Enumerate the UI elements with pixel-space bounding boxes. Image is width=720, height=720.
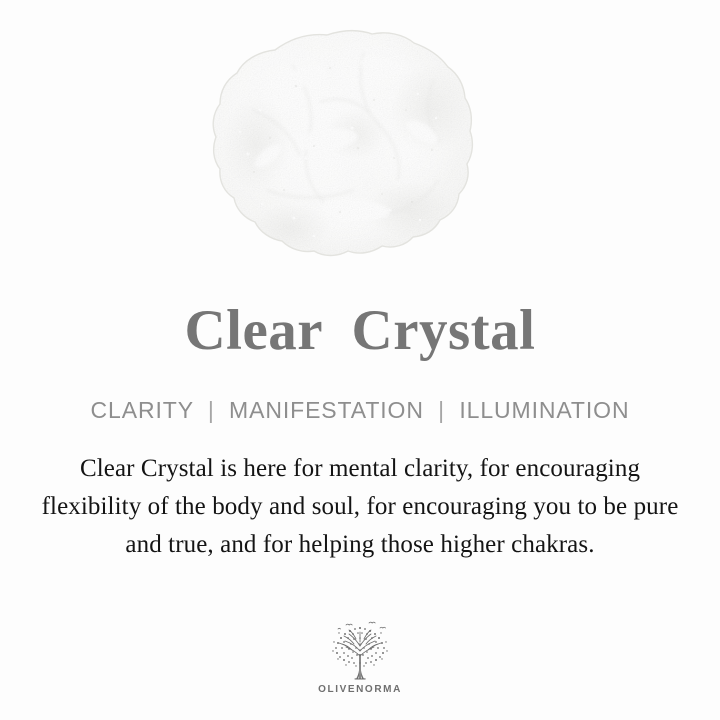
keyword-separator-1: | — [201, 395, 222, 425]
olive-tree-icon — [318, 620, 402, 682]
keyword-list: CLARITY | MANIFESTATION | ILLUMINATION — [0, 395, 720, 425]
product-description: Clear Crystal is here for mental clarity… — [40, 450, 680, 564]
brand-name: OLIVENORMA — [318, 684, 402, 695]
keyword-illumination: ILLUMINATION — [459, 397, 629, 423]
clear-crystal-image — [196, 14, 506, 286]
keyword-manifestation: MANIFESTATION — [229, 397, 424, 423]
keyword-clarity: CLARITY — [91, 397, 194, 423]
crystal-image-container — [0, 0, 720, 292]
keyword-separator-2: | — [431, 395, 452, 425]
brand-logo: OLIVENORMA — [0, 620, 720, 695]
product-info-card: Clear Crystal CLARITY | MANIFESTATION | … — [0, 0, 720, 720]
page-title: Clear Crystal — [0, 296, 720, 366]
